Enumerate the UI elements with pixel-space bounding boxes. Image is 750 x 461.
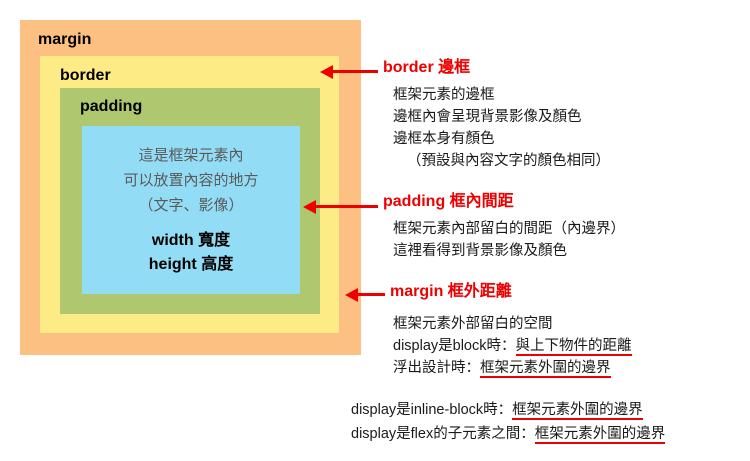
width-label: width 寬度 bbox=[82, 229, 300, 253]
arrow-to-margin-icon bbox=[345, 288, 385, 302]
height-label: height 高度 bbox=[82, 253, 300, 277]
section-display-notes: display是inline-block時：框架元素外圍的邊界 display是… bbox=[383, 398, 750, 446]
body-line-prefix: 浮出設計時： bbox=[393, 360, 480, 376]
content-dimensions: width 寬度 height 高度 bbox=[82, 229, 300, 277]
section-border-heading: border 邊框 bbox=[383, 58, 750, 78]
content-line: 這是框架元素內 bbox=[82, 143, 300, 168]
body-line-prefix: display是flex的子元素之間： bbox=[351, 426, 535, 442]
section-border-body: 框架元素的邊框 邊框內會呈現背景影像及顏色 邊框本身有顏色 （預設與內容文字的顏… bbox=[393, 84, 750, 172]
content-text-block: 這是框架元素內 可以放置內容的地方 （文字、影像） width 寬度 heigh… bbox=[82, 143, 300, 277]
body-line: display是block時：與上下物件的距離 bbox=[393, 335, 750, 357]
body-line: 邊框內會呈現背景影像及顏色 bbox=[393, 106, 750, 128]
padding-layer: padding 這是框架元素內 可以放置內容的地方 （文字、影像） width … bbox=[60, 88, 320, 314]
section-padding: padding 框內間距 框架元素內部留白的間距（內邊界） 這裡看得到背景影像及… bbox=[383, 192, 750, 262]
section-padding-heading: padding 框內間距 bbox=[383, 192, 750, 212]
body-line: （預設與內容文字的顏色相同） bbox=[393, 150, 750, 172]
info-panel: border 邊框 框架元素的邊框 邊框內會呈現背景影像及顏色 邊框本身有顏色 … bbox=[383, 0, 750, 461]
body-line-emphasis: 與上下物件的距離 bbox=[516, 338, 632, 356]
section-display-notes-body: display是inline-block時：框架元素外圍的邊界 display是… bbox=[351, 398, 750, 446]
body-line: 邊框本身有顏色 bbox=[393, 128, 750, 150]
section-margin-body: 框架元素外部留白的空間 display是block時：與上下物件的距離 浮出設計… bbox=[393, 313, 750, 379]
margin-label: margin bbox=[38, 32, 91, 48]
border-layer: border padding 這是框架元素內 可以放置內容的地方 （文字、影像）… bbox=[40, 56, 339, 333]
body-line-prefix: display是block時： bbox=[393, 338, 516, 354]
section-border: border 邊框 框架元素的邊框 邊框內會呈現背景影像及顏色 邊框本身有顏色 … bbox=[383, 58, 750, 172]
body-line-emphasis: 框架元素外圍的邊界 bbox=[512, 402, 643, 420]
section-margin-heading: margin 框外距離 bbox=[390, 282, 750, 302]
content-line: 可以放置內容的地方 bbox=[82, 168, 300, 193]
arrow-shaft bbox=[313, 205, 378, 208]
section-padding-body: 框架元素內部留白的間距（內邊界） 這裡看得到背景影像及顏色 bbox=[393, 218, 750, 262]
body-line: 這裡看得到背景影像及顏色 bbox=[393, 240, 750, 262]
content-line: （文字、影像） bbox=[82, 193, 300, 218]
margin-layer: margin border padding 這是框架元素內 可以放置內容的地方 … bbox=[20, 20, 361, 355]
arrow-shaft bbox=[355, 293, 385, 296]
section-margin: margin 框外距離 框架元素外部留白的空間 display是block時：與… bbox=[383, 282, 750, 379]
arrow-to-padding-icon bbox=[303, 200, 378, 214]
body-line-emphasis: 框架元素外圍的邊界 bbox=[535, 426, 666, 444]
body-line: 浮出設計時：框架元素外圍的邊界 bbox=[393, 357, 750, 379]
body-line: 框架元素外部留白的空間 bbox=[393, 313, 750, 335]
padding-label: padding bbox=[80, 99, 142, 115]
arrow-shaft bbox=[330, 70, 378, 73]
body-line: display是flex的子元素之間：框架元素外圍的邊界 bbox=[351, 422, 750, 446]
border-label: border bbox=[60, 68, 111, 84]
body-line-emphasis: 框架元素外圍的邊界 bbox=[480, 360, 611, 378]
body-line: display是inline-block時：框架元素外圍的邊界 bbox=[351, 398, 750, 422]
content-layer: 這是框架元素內 可以放置內容的地方 （文字、影像） width 寬度 heigh… bbox=[82, 126, 300, 294]
body-line: 框架元素內部留白的間距（內邊界） bbox=[393, 218, 750, 240]
body-line: 框架元素的邊框 bbox=[393, 84, 750, 106]
css-box-model-diagram: margin border padding 這是框架元素內 可以放置內容的地方 … bbox=[0, 0, 380, 461]
body-line-prefix: display是inline-block時： bbox=[351, 402, 512, 418]
arrow-to-border-icon bbox=[320, 65, 378, 79]
